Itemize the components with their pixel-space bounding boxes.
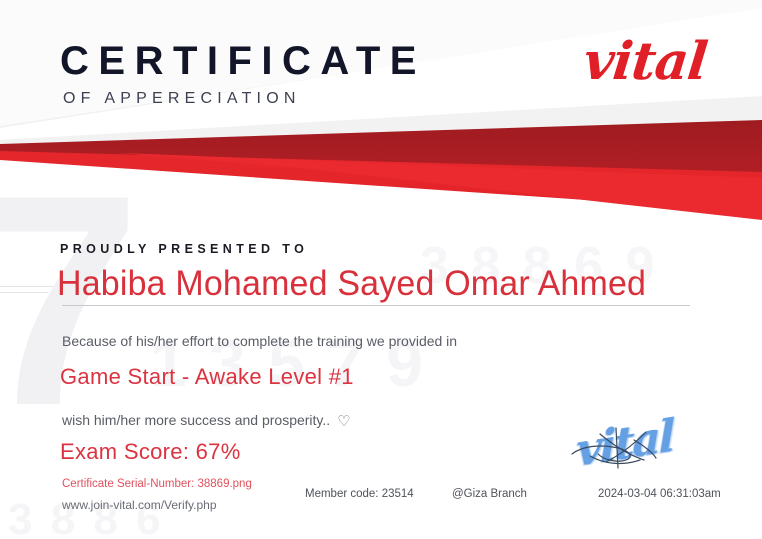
- page-title: CERTIFICATE: [60, 40, 426, 82]
- reason-text: Because of his/her effort to complete th…: [62, 333, 457, 349]
- branch-label: @Giza Branch: [452, 488, 527, 500]
- wish-text: wish him/her more success and prosperity…: [62, 412, 330, 428]
- heart-icon: ♡: [337, 412, 350, 430]
- recipient-name-rule: [62, 305, 690, 306]
- recipient-name: Habiba Mohamed Sayed Omar Ahmed: [57, 264, 646, 304]
- course-name: Game Start - Awake Level #1: [60, 364, 354, 390]
- header-title-block: CERTIFICATE OF APPERECIATION: [60, 40, 426, 108]
- signature-icon: [560, 420, 730, 490]
- member-code: Member code: 23514: [305, 488, 414, 500]
- decor-hairline-4: [0, 292, 48, 293]
- presented-to-label: PROUDLY PRESENTED TO: [60, 242, 308, 256]
- exam-score: Exam Score: 67%: [60, 439, 241, 465]
- vital-logo: vital: [581, 36, 709, 88]
- verify-url[interactable]: www.join-vital.com/Verify.php: [62, 498, 217, 512]
- approval-stamp: vital: [560, 414, 730, 492]
- wish-text-row: wish him/her more success and prosperity…: [62, 412, 351, 430]
- page-subtitle: OF APPERECIATION: [63, 90, 426, 108]
- decor-hairline-3: [0, 286, 62, 287]
- certificate-serial-number: Certificate Serial-Number: 38869.png: [62, 478, 252, 490]
- certificate-canvas: 7 1 3 5 7 9 3 8 8 6 9 3 8 8 6 CERTIFICAT…: [0, 0, 762, 539]
